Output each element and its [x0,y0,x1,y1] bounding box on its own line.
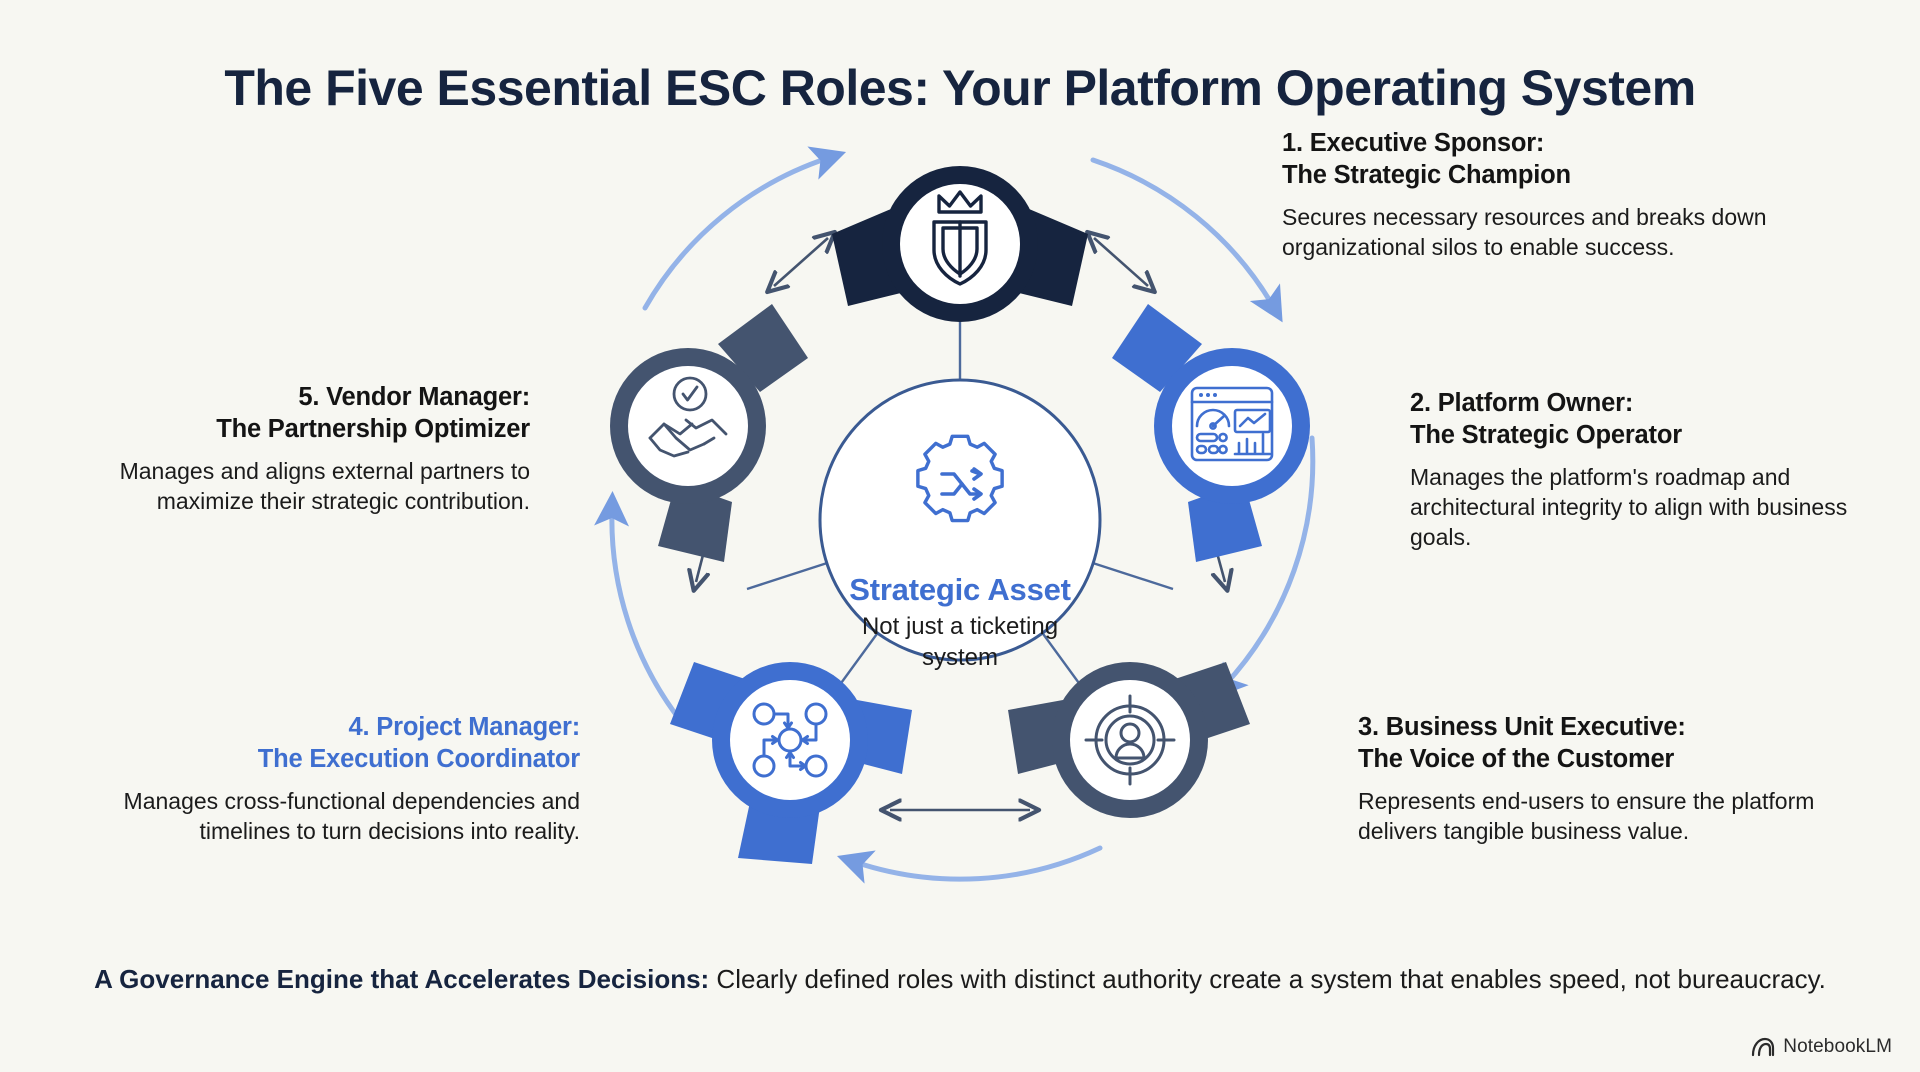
role-description: Manages and aligns external partners to … [60,456,530,517]
role-heading: 2. Platform Owner: The Strategic Operato… [1410,388,1880,452]
node-executive-sponsor[interactable] [832,166,1088,322]
role-heading: 5. Vendor Manager: The Partnership Optim… [60,382,530,446]
role-title-line2: The Strategic Champion [1282,161,1571,189]
node-vendor-manager[interactable] [610,304,808,562]
role-title-line2: The Execution Coordinator [258,745,580,773]
notebooklm-label: NotebookLM [1783,1036,1892,1058]
role-description: Represents end-users to ensure the platf… [1358,786,1878,847]
role-heading: 3. Business Unit Executive: The Voice of… [1358,712,1878,776]
page-title: The Five Essential ESC Roles: Your Platf… [0,60,1920,116]
footer-rest: Clearly defined roles with distinct auth… [709,964,1826,994]
node-business-unit-executive[interactable] [1008,662,1250,818]
role-title-line1: 5. Vendor Manager: [298,383,530,411]
role-title-line2: The Strategic Operator [1410,421,1682,449]
role-heading: 1. Executive Sponsor: The Strategic Cham… [1282,128,1862,192]
role-block-executive-sponsor: 1. Executive Sponsor: The Strategic Cham… [1282,128,1862,262]
role-block-project-manager: 4. Project Manager: The Execution Coordi… [60,712,580,846]
center-label: Strategic Asset [560,572,1360,608]
role-title-line1: 4. Project Manager: [349,713,580,741]
infographic-canvas: The Five Essential ESC Roles: Your Platf… [0,0,1920,1072]
cycle-diagram: Strategic Asset Not just a ticketing sys… [560,120,1360,920]
center-label-group: Strategic Asset Not just a ticketing sys… [560,572,1360,673]
node-project-manager[interactable] [670,662,912,864]
center-sublabel-line2: system [560,642,1360,673]
role-description: Manages the platform's roadmap and archi… [1410,462,1880,553]
node-platform-owner[interactable] [1112,304,1310,562]
role-title-line2: The Partnership Optimizer [216,415,530,443]
notebooklm-logo-icon [1751,1037,1775,1057]
footer-caption: A Governance Engine that Accelerates Dec… [0,962,1920,997]
center-sublabel-line1: Not just a ticketing [560,611,1360,642]
notebooklm-watermark: NotebookLM [1751,1036,1892,1058]
role-title-line1: 1. Executive Sponsor: [1282,129,1544,157]
role-description: Manages cross-functional dependencies an… [60,786,580,847]
role-heading: 4. Project Manager: The Execution Coordi… [60,712,580,776]
role-title-line1: 2. Platform Owner: [1410,389,1633,417]
role-block-platform-owner: 2. Platform Owner: The Strategic Operato… [1410,388,1880,553]
role-block-business-unit-executive: 3. Business Unit Executive: The Voice of… [1358,712,1878,846]
role-description: Secures necessary resources and breaks d… [1282,202,1862,263]
role-block-vendor-manager: 5. Vendor Manager: The Partnership Optim… [60,382,530,516]
role-title-line1: 3. Business Unit Executive: [1358,713,1686,741]
footer-bold-lead: A Governance Engine that Accelerates Dec… [94,964,709,994]
role-title-line2: The Voice of the Customer [1358,745,1674,773]
